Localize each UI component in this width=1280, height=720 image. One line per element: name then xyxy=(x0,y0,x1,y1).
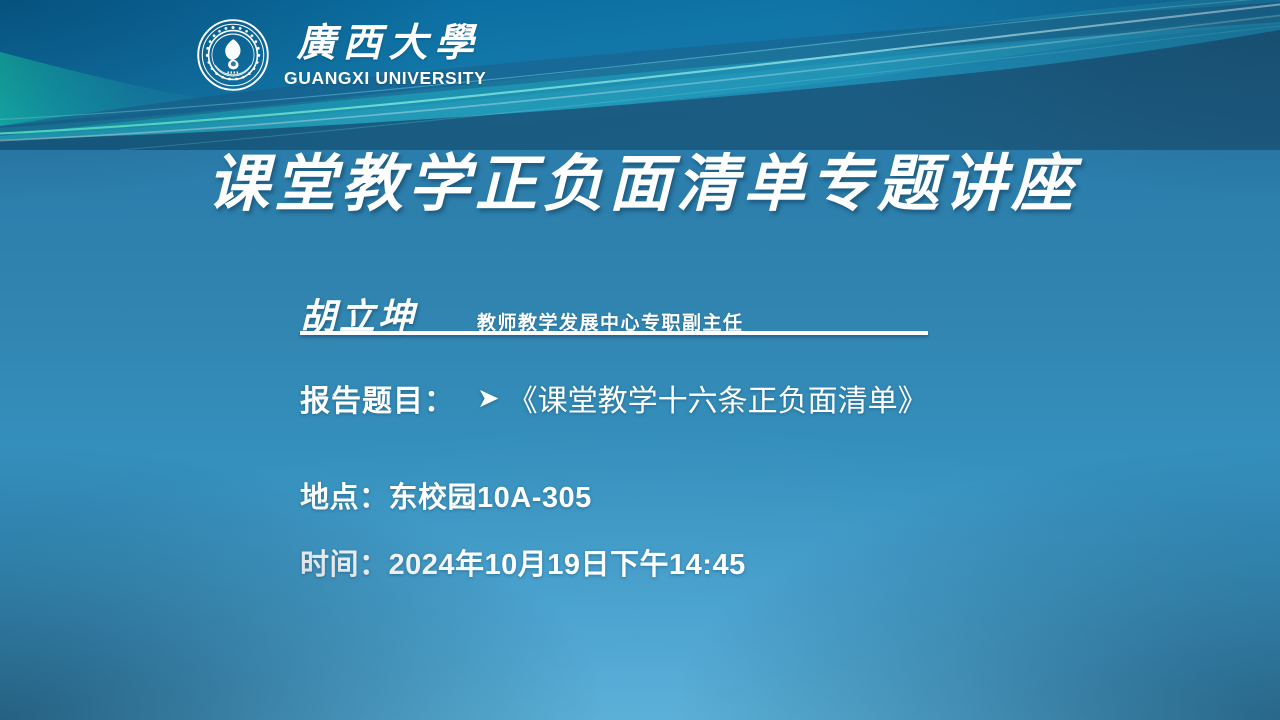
report-title-label: 报告题目： xyxy=(300,376,455,420)
time-line: 时间：2024年10月19日下午14:45 xyxy=(300,541,746,583)
report-title-row: 报告题目： ➤ 《课堂教学十六条正负面清单》 xyxy=(300,376,928,420)
speaker-divider xyxy=(300,331,928,335)
slide-title: 课堂教学正负面清单专题讲座 xyxy=(0,150,1280,218)
venue-line: 地点：东校园10A-305 xyxy=(300,474,592,516)
arrow-bullet-icon: ➤ xyxy=(477,385,500,412)
university-name-en: GUANGXI UNIVERSITY xyxy=(284,68,486,89)
university-name-cn: 廣西大學 xyxy=(290,24,481,63)
header-wave-decoration xyxy=(0,0,1280,150)
guangxi-university-seal-icon xyxy=(196,18,270,92)
university-wordmark: 廣西大學 GUANGXI UNIVERSITY xyxy=(284,24,486,89)
university-logo: 廣西大學 GUANGXI UNIVERSITY xyxy=(196,18,486,92)
presentation-slide: 廣西大學 GUANGXI UNIVERSITY 课堂教学正负面清单专题讲座 胡立… xyxy=(0,0,1280,720)
report-title-value: 《课堂教学十六条正负面清单》 xyxy=(508,376,928,420)
